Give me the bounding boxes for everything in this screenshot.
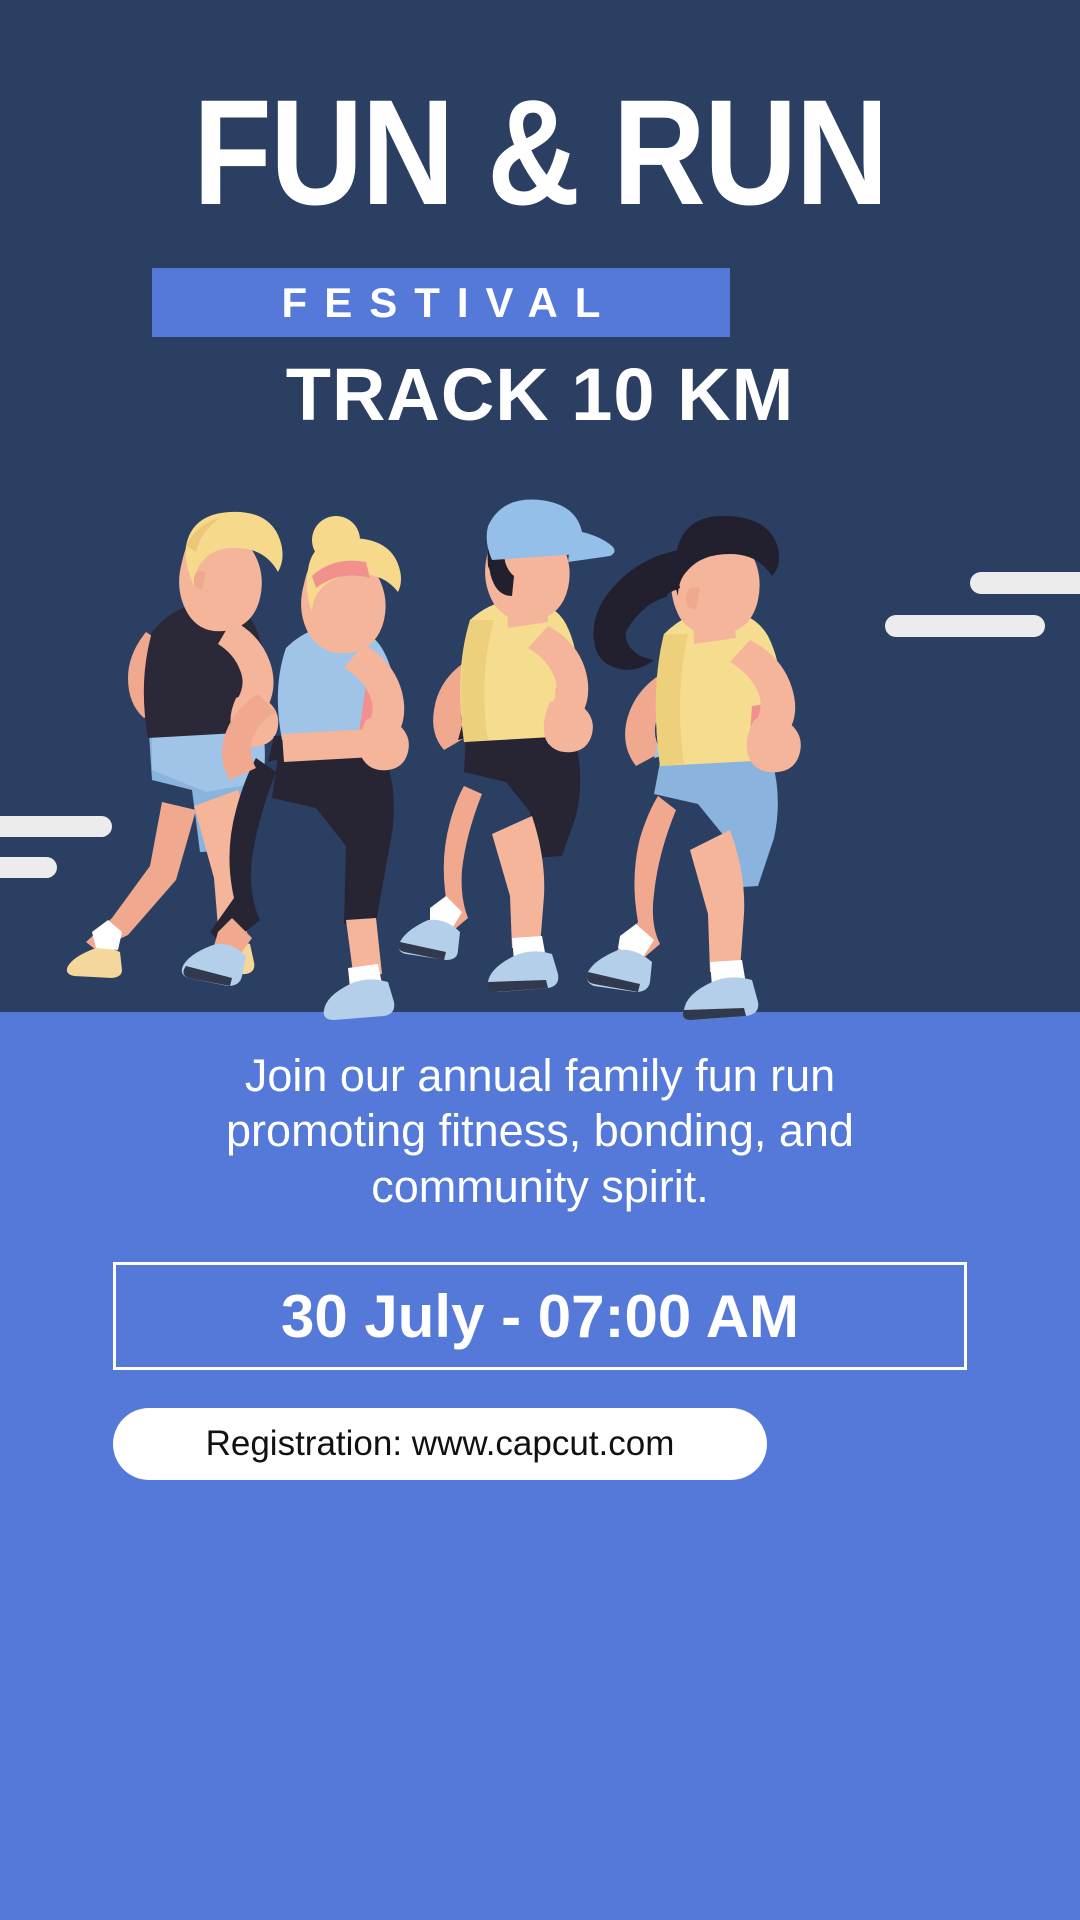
- blurb-paragraph: Join our annual family fun run promoting…: [70, 1048, 1010, 1214]
- runner-3: [399, 500, 615, 992]
- four-runners-illustration: .skin{fill:#f4b59a} .skin2{fill:#f0a98e}…: [0, 480, 1080, 1040]
- track-distance-label: TRACK 10 KM: [0, 358, 1080, 432]
- date-time-box: 30 July - 07:00 AM: [113, 1262, 967, 1370]
- poster-canvas: FUN & RUN FESTIVAL TRACK 10 KM .skin{fil…: [0, 0, 1080, 1920]
- date-time-label: 30 July - 07:00 AM: [281, 1282, 799, 1351]
- blurb-line-1: Join our annual family fun run: [70, 1048, 1010, 1103]
- blurb-line-2: promoting fitness, bonding, and: [70, 1103, 1010, 1158]
- registration-button[interactable]: Registration: www.capcut.com: [113, 1408, 767, 1480]
- registration-label: Registration: www.capcut.com: [206, 1424, 675, 1464]
- blurb-line-3: community spirit.: [70, 1159, 1010, 1214]
- festival-label: FESTIVAL: [265, 282, 618, 324]
- page-title: FUN & RUN: [76, 0, 1005, 217]
- runner-4: [587, 516, 801, 1020]
- festival-band: FESTIVAL: [152, 268, 730, 337]
- header-block: FUN & RUN: [0, 0, 1080, 217]
